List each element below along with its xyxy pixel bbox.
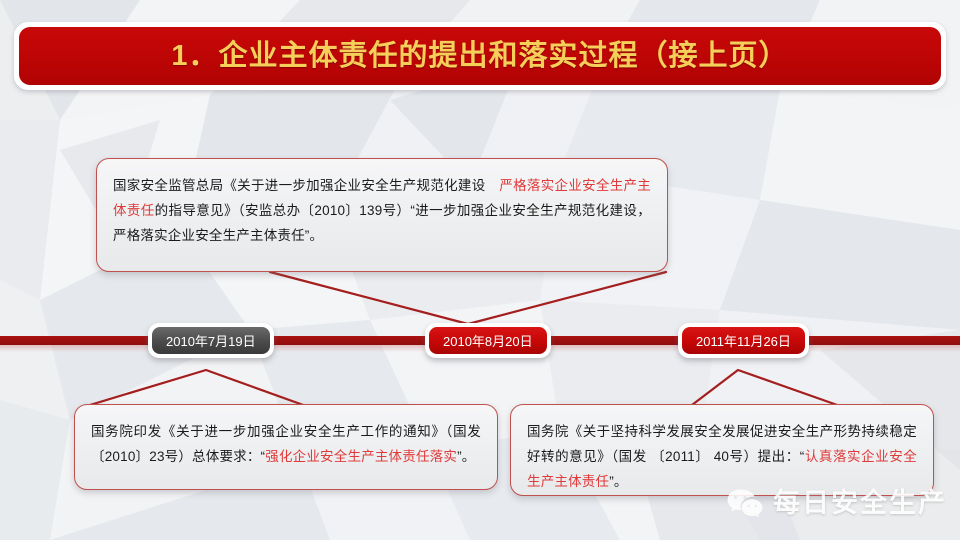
timeline-badge-2[interactable]: 2010年8月20日 [425,323,551,358]
timeline-badge-3[interactable]: 2011年11月26日 [678,323,809,358]
timeline-badge-1[interactable]: 2010年7月19日 [148,323,274,358]
callout-top-text: 国家安全监管总局《关于进一步加强企业安全生产规范化建设 严格落实企业安全生产主体… [113,173,651,248]
callout-bottom-left-text: 国务院印发《关于进一步加强企业安全生产工作的通知》（国发〔2010〕23号）总体… [91,419,481,469]
callout-bottom-left: 国务院印发《关于进一步加强企业安全生产工作的通知》（国发〔2010〕23号）总体… [74,404,498,490]
title-banner-fill: 1．企业主体责任的提出和落实过程（接上页） [19,27,941,85]
callout-top-tail [268,268,668,328]
title-banner: 1．企业主体责任的提出和落实过程（接上页） [14,22,946,90]
slide-canvas: 1．企业主体责任的提出和落实过程（接上页） 国家安全监管总局《关于进一步加强企业… [0,0,960,540]
callout-bottom-right-text: 国务院《关于坚持科学发展安全发展促进安全生产形势持续稳定好转的意见》（国发 〔2… [527,419,917,494]
page-title: 1．企业主体责任的提出和落实过程（接上页） [171,42,788,71]
callout-bl-seg3: ”。 [457,449,475,464]
timeline-badge-3-label: 2011年11月26日 [682,327,805,354]
callout-top-tail-shape [268,268,668,328]
callout-top-seg1: 国家安全监管总局《关于进一步加强企业安全生产规范化建设 [113,178,499,193]
callout-bottom-right: 国务院《关于坚持科学发展安全发展促进安全生产形势持续稳定好转的意见》（国发 〔2… [510,404,934,496]
callout-br-seg3: ”。 [609,474,627,489]
callout-top: 国家安全监管总局《关于进一步加强企业安全生产规范化建设 严格落实企业安全生产主体… [96,158,668,272]
callout-bl-highlight: 强化企业安全生产主体责任落实 [265,449,457,464]
timeline-badge-2-label: 2010年8月20日 [429,327,547,354]
timeline-badge-1-label: 2010年7月19日 [152,327,270,354]
callout-top-seg3: 的指导意见》（安监总办〔2010〕139号）“进一步加强企业安全生产规范化建设，… [113,203,651,243]
